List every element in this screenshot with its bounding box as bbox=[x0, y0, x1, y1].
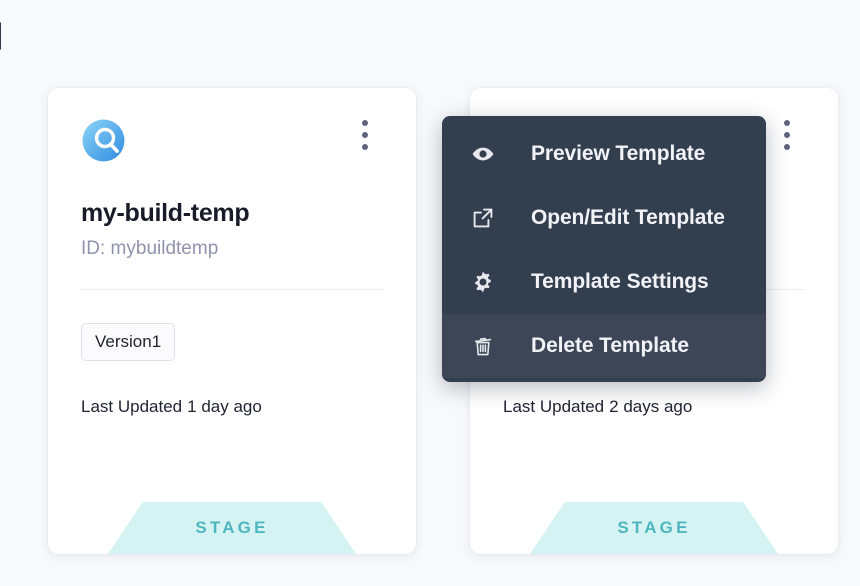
card-divider bbox=[81, 289, 383, 290]
more-options-icon[interactable] bbox=[776, 118, 798, 152]
stage-badge: STAGE bbox=[530, 502, 778, 554]
menu-item-template-settings[interactable]: Template Settings bbox=[442, 250, 766, 314]
more-options-icon[interactable] bbox=[354, 118, 376, 152]
last-updated-value: 2 days ago bbox=[609, 397, 692, 416]
kebab-dot bbox=[784, 120, 790, 126]
stage-badge: STAGE bbox=[108, 502, 356, 554]
kebab-dot bbox=[362, 144, 368, 150]
last-updated-value: 1 day ago bbox=[187, 397, 262, 416]
last-updated: Last Updated1 day ago bbox=[81, 397, 384, 417]
app-search-logo-icon bbox=[81, 118, 126, 163]
template-card-1[interactable]: my-build-temp ID: mybuildtemp Version1 L… bbox=[48, 88, 416, 554]
external-link-icon bbox=[470, 206, 496, 230]
stage-badge-label: STAGE bbox=[195, 518, 268, 538]
menu-item-label: Delete Template bbox=[531, 334, 689, 358]
kebab-dot bbox=[784, 132, 790, 138]
card-id: ID: mybuildtemp bbox=[81, 238, 384, 260]
last-updated: Last Updated2 days ago bbox=[503, 397, 806, 417]
trash-icon bbox=[470, 334, 496, 358]
last-updated-label: Last Updated bbox=[81, 397, 182, 416]
menu-item-label: Preview Template bbox=[531, 142, 705, 166]
kebab-dot bbox=[784, 144, 790, 150]
version-chip[interactable]: Version1 bbox=[81, 323, 175, 361]
kebab-dot bbox=[362, 132, 368, 138]
gear-icon bbox=[470, 270, 496, 294]
card-title: my-build-temp bbox=[81, 200, 384, 228]
context-menu-caret bbox=[0, 22, 1, 50]
template-context-menu: Preview Template Open/Edit Template Temp… bbox=[442, 116, 766, 382]
menu-item-delete-template[interactable]: Delete Template bbox=[442, 314, 766, 378]
eye-icon bbox=[470, 142, 496, 166]
stage-badge-label: STAGE bbox=[617, 518, 690, 538]
kebab-dot bbox=[362, 120, 368, 126]
menu-item-label: Template Settings bbox=[531, 270, 709, 294]
last-updated-label: Last Updated bbox=[503, 397, 604, 416]
menu-item-open-edit-template[interactable]: Open/Edit Template bbox=[442, 186, 766, 250]
menu-item-label: Open/Edit Template bbox=[531, 206, 725, 230]
menu-item-preview-template[interactable]: Preview Template bbox=[442, 122, 766, 186]
